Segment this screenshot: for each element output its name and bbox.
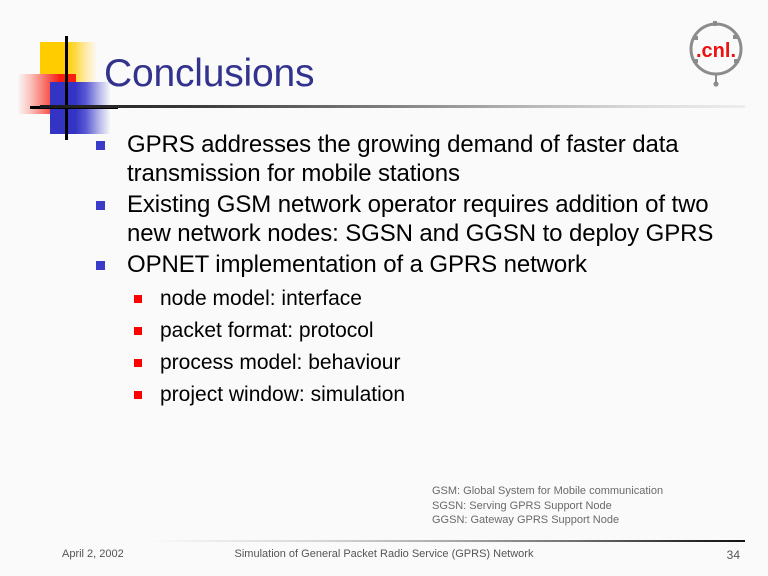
- acronym-legend: GSM: Global System for Mobile communicat…: [432, 484, 663, 528]
- cnl-logo: .cnl.: [684, 18, 748, 90]
- sub-bullet-square-icon: [134, 295, 142, 303]
- sub-bullet-square-icon: [134, 359, 142, 367]
- slide-title: Conclusions: [104, 54, 314, 93]
- bullet-text: GPRS addresses the growing demand of fas…: [127, 130, 748, 188]
- bullet-square-icon: [96, 141, 105, 150]
- sub-bullet-square-icon: [134, 391, 142, 399]
- sub-bullet-square-icon: [134, 327, 142, 335]
- footer-title: Simulation of General Packet Radio Servi…: [0, 548, 768, 560]
- legend-line: GGSN: Gateway GPRS Support Node: [432, 513, 663, 528]
- cnl-logo-svg: .cnl.: [684, 18, 748, 90]
- sub-bullet-text: packet format: protocol: [160, 317, 374, 344]
- cnl-logo-text: .cnl.: [696, 40, 736, 62]
- footer-page-number: 34: [727, 548, 740, 562]
- sub-bullet-text: node model: interface: [160, 285, 362, 312]
- bullet-text: Existing GSM network operator requires a…: [127, 190, 748, 248]
- bullet-text: OPNET implementation of a GPRS network: [127, 250, 587, 279]
- list-item: process model: behaviour: [134, 349, 748, 376]
- list-item: GPRS addresses the growing demand of fas…: [96, 130, 748, 188]
- sub-bullet-list: node model: interface packet format: pro…: [134, 285, 748, 408]
- list-item: OPNET implementation of a GPRS network: [96, 250, 748, 279]
- bullet-square-icon: [96, 201, 105, 210]
- slide-canvas: Conclusions .cnl. GPRS addresses the gro…: [0, 0, 768, 576]
- list-item: packet format: protocol: [134, 317, 748, 344]
- footer-divider-rule: [148, 540, 745, 542]
- bullet-list: GPRS addresses the growing demand of fas…: [96, 130, 748, 413]
- title-underline-rule: [40, 105, 745, 108]
- list-item: Existing GSM network operator requires a…: [96, 190, 748, 248]
- sub-bullet-text: process model: behaviour: [160, 349, 400, 376]
- vertical-crosshair-line: [65, 36, 68, 140]
- legend-line: SGSN: Serving GPRS Support Node: [432, 499, 663, 514]
- sub-bullet-text: project window: simulation: [160, 381, 405, 408]
- bullet-square-icon: [96, 261, 105, 270]
- legend-line: GSM: Global System for Mobile communicat…: [432, 484, 663, 499]
- list-item: node model: interface: [134, 285, 748, 312]
- list-item: project window: simulation: [134, 381, 748, 408]
